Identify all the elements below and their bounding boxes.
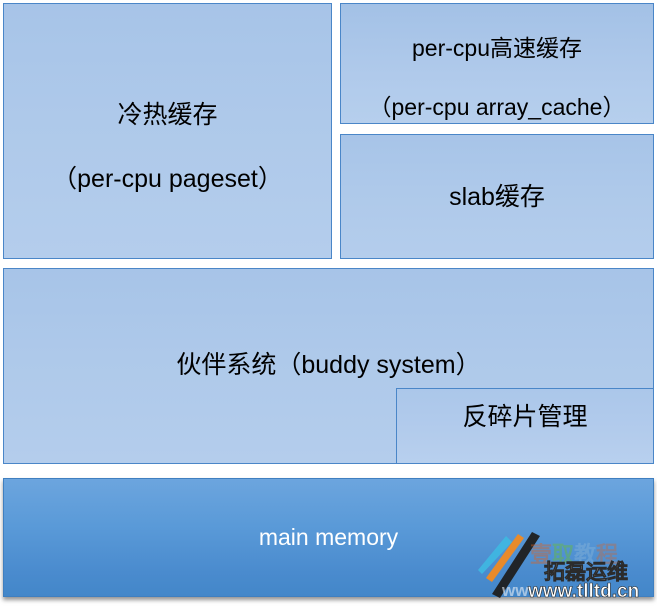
box-main-memory-label: main memory: [259, 523, 398, 552]
box-hot-cold-cache-line2: （per-cpu pageset）: [52, 165, 283, 193]
box-percpu-array-cache-line2: （per-cpu array_cache）: [369, 94, 626, 120]
box-main-memory: main memory: [3, 478, 654, 597]
box-hot-cold-cache-line1: 冷热缓存: [117, 101, 217, 129]
box-buddy-system-label: 伙伴系统（buddy system）: [176, 349, 480, 381]
box-slab-cache: slab缓存: [340, 134, 654, 259]
diagram-canvas: 冷热缓存 （per-cpu pageset） per-cpu高速缓存 （per-…: [0, 0, 657, 606]
box-hot-cold-cache: 冷热缓存 （per-cpu pageset）: [3, 3, 332, 259]
box-anti-fragmentation: 反碎片管理: [396, 388, 654, 464]
box-percpu-array-cache: per-cpu高速缓存 （per-cpu array_cache）: [340, 3, 654, 124]
box-anti-fragmentation-label: 反碎片管理: [462, 401, 587, 433]
box-percpu-array-cache-line1: per-cpu高速缓存: [412, 35, 582, 61]
box-percpu-array-cache-label: per-cpu高速缓存 （per-cpu array_cache）: [369, 5, 626, 123]
box-slab-cache-label: slab缓存: [449, 181, 545, 213]
box-hot-cold-cache-label: 冷热缓存 （per-cpu pageset）: [52, 67, 283, 195]
